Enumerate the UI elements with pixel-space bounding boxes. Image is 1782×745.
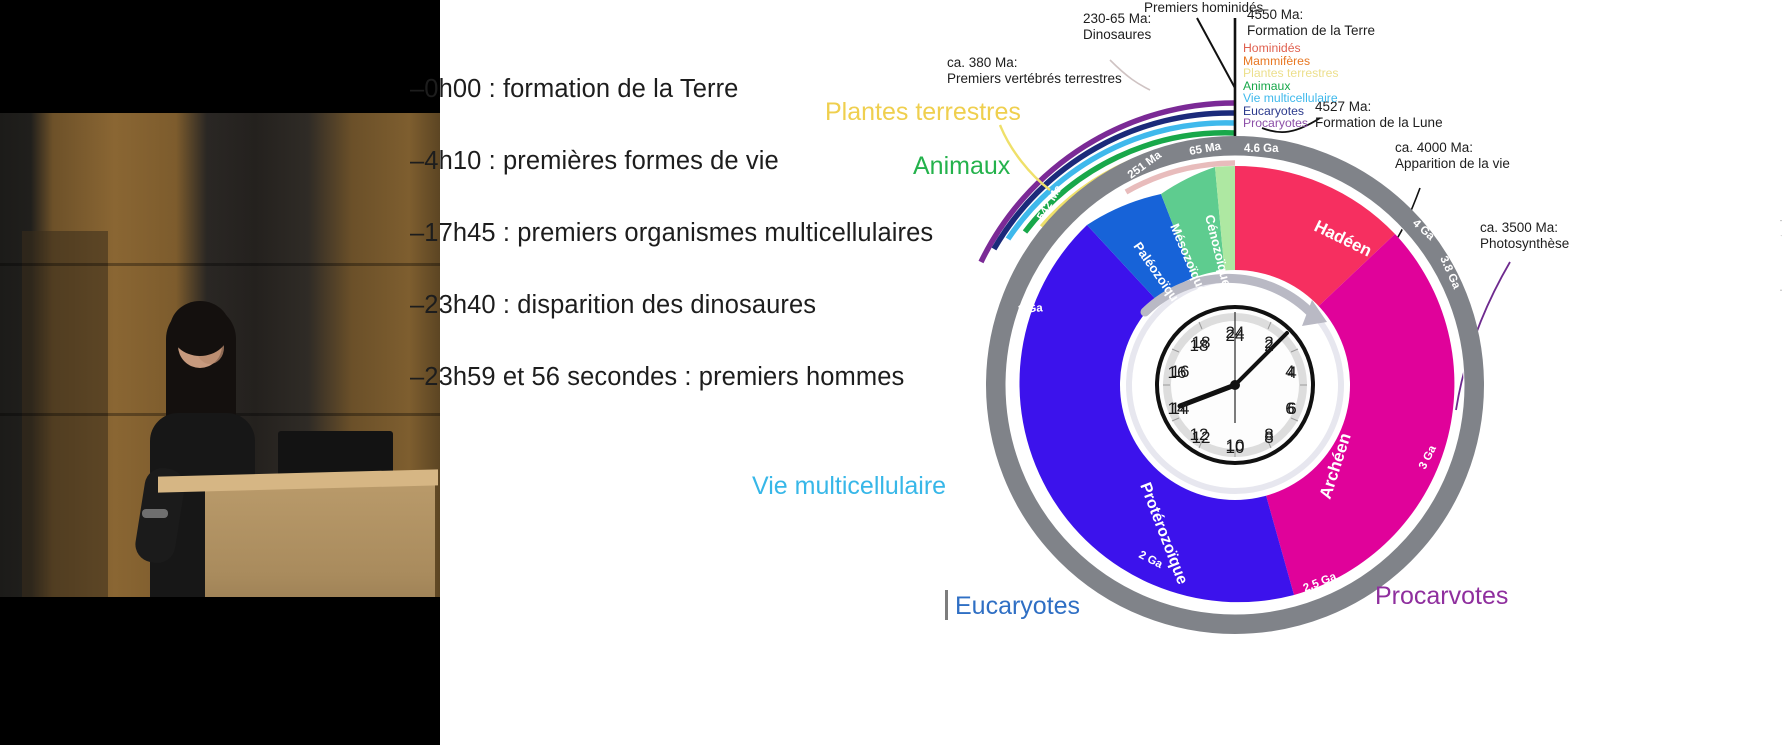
arc-legend-vie-multicellulaire: Vie multicellulaire: [1243, 92, 1339, 105]
annotation-line-1: ca. 380 Ma:: [947, 55, 1122, 71]
clock-center-pin: [1230, 380, 1240, 390]
arc-legend: Hominidés Mammifères Plantes terrestres …: [1243, 42, 1339, 130]
label-tick-eucaryotes: [945, 590, 948, 620]
letterbox-top: [0, 0, 440, 113]
arc-legend-plantes-terrestres: Plantes terrestres: [1243, 67, 1339, 80]
camera-pane: [0, 0, 440, 745]
clock-num-4: 4: [1287, 363, 1296, 382]
clock-num-14: 14: [1168, 399, 1187, 418]
big-label-procaryotes: Procarvotes: [1375, 582, 1508, 611]
clock-num-8: 8: [1264, 425, 1273, 444]
annotation-photosynthese: ca. 3500 Ma: Photosynthèse: [1480, 220, 1569, 253]
speaker-watch: [142, 509, 168, 518]
wall-seam: [0, 263, 440, 266]
annotation-line-1: Premiers hominidés: [1144, 0, 1263, 16]
geological-clock-diagram: 24 2 4 6 8 10 12 14 16 18 20 22 24 2: [850, 0, 1782, 745]
annotation-apparition-vie: ca. 4000 Ma: Photosynthèse Apparition de…: [1395, 140, 1510, 173]
annotation-formation-terre: 4550 Ma: Formation de la Terre: [1247, 7, 1375, 40]
clock-num-2: 2: [1264, 336, 1273, 355]
clock-num-24: 24: [1226, 326, 1245, 345]
annotation-premiers-hominides: Premiers hominidés: [1144, 0, 1263, 16]
big-label-plantes-terrestres: Plantes terrestres: [825, 98, 1021, 127]
lecture-room-background: [0, 113, 440, 597]
annotation-line-1: 4550 Ma:: [1247, 7, 1375, 23]
big-label-animaux: Animaux: [913, 152, 1010, 181]
annotation-line-1: ca. 4000 Ma:: [1395, 140, 1510, 156]
arc-legend-procaryotes: Procaryotes: [1243, 117, 1339, 130]
clock-num-16: 16: [1168, 363, 1187, 382]
big-label-vie-multicellulaire: Vie multicellulaire: [752, 472, 946, 501]
annotation-line-2: Apparition de la vie: [1395, 156, 1510, 172]
annotation-line-2: Formation de la Terre: [1247, 23, 1375, 39]
annotation-vertebres-terrestres: ca. 380 Ma: Premiers vertébrés terrestre…: [947, 55, 1122, 88]
presentation-slide: –0h00 : formation de la Terre –4h10 : pr…: [440, 0, 1782, 745]
ring-tick-4-6ga: 4.6 Ga: [1244, 143, 1279, 155]
big-label-eucaryotes: Eucaryotes: [955, 592, 1080, 621]
ring-tick-1ga: 1 Ga: [1017, 302, 1043, 316]
annotation-line-2: Premiers vertébrés terrestres: [947, 71, 1122, 87]
clock-num-18: 18: [1190, 336, 1209, 355]
speaker-hair-top: [170, 301, 230, 356]
annotation-line-2: Photosynthèse: [1480, 236, 1569, 252]
annotation-line-2: Dinosaures: [1083, 27, 1151, 43]
letterbox-bottom: [0, 597, 440, 745]
slide-capture: –0h00 : formation de la Terre –4h10 : pr…: [0, 0, 1782, 745]
annotation-line-1: 230-65 Ma:: [1083, 11, 1151, 27]
leader-hominides: [1197, 18, 1235, 88]
annotation-dinosaures: 230-65 Ma: Dinosaures: [1083, 11, 1151, 44]
arc-legend-hominides: Hominidés: [1243, 42, 1339, 55]
clock-num-10: 10: [1226, 436, 1245, 455]
clock-num-12: 12: [1190, 425, 1209, 444]
clock-num-6: 6: [1287, 399, 1296, 418]
annotation-line-1: ca. 3500 Ma:: [1480, 220, 1569, 236]
